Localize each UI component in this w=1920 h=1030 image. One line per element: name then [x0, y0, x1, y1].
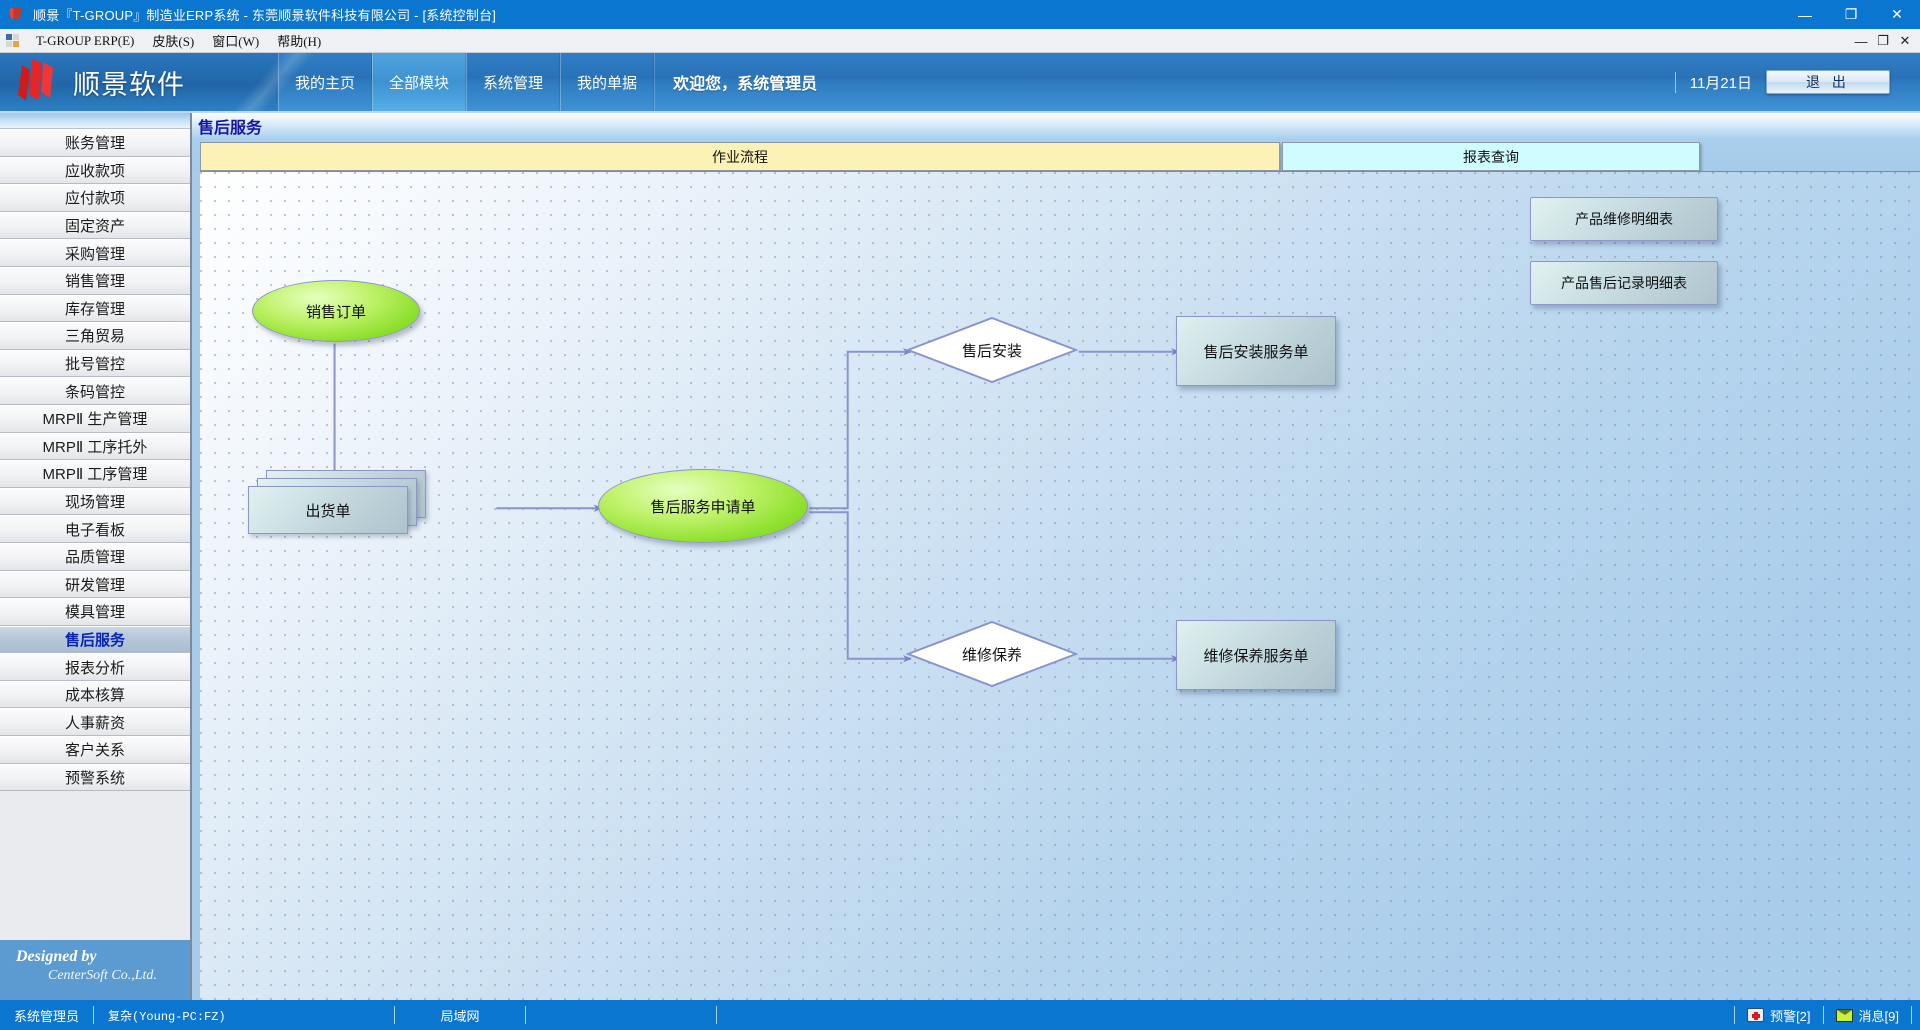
diamond-label: 售后安装 [906, 316, 1078, 384]
maximize-icon[interactable]: ❐ [1828, 0, 1874, 29]
module-sidebar: 账务管理 应收款项 应付款项 固定资产 采购管理 销售管理 库存管理 三角贸易 … [0, 113, 192, 1000]
mdi-restore-icon[interactable]: ❐ [1872, 30, 1894, 52]
flow-canvas-wrap: 销售订单 出货单 售后服务申请单 售后安装 [192, 171, 1920, 1000]
sidebar-filler [0, 791, 190, 940]
diamond-label: 维修保养 [906, 620, 1078, 688]
sidebar-item-mrp-process[interactable]: MRPⅡ 工序管理 [0, 460, 190, 488]
menu-item-window[interactable]: 窗口(W) [203, 29, 268, 52]
sidebar-item-mrp-outsource[interactable]: MRPⅡ 工序托外 [0, 433, 190, 461]
sidebar-item-sales[interactable]: 销售管理 [0, 267, 190, 295]
sidebar-item-payables[interactable]: 应付款项 [0, 184, 190, 212]
stack-layer-front: 出货单 [248, 486, 408, 534]
menu-item-erp[interactable]: T-GROUP ERP(E) [27, 31, 143, 51]
mail-icon [1836, 1009, 1853, 1022]
minimize-icon[interactable]: — [1782, 0, 1828, 29]
content-area: 售后服务 作业流程 报表查询 [192, 113, 1920, 1000]
flow-report-service-record[interactable]: 产品售后记录明细表 [1530, 261, 1718, 305]
logout-button[interactable]: 退 出 [1766, 70, 1890, 94]
sidebar-item-fixed-assets[interactable]: 固定资产 [0, 212, 190, 240]
status-cell-5 [717, 1006, 745, 1024]
flow-node-service-request[interactable]: 售后服务申请单 [598, 469, 808, 543]
sidebar-item-inventory[interactable]: 库存管理 [0, 295, 190, 323]
status-network: 局域网 [395, 1006, 525, 1024]
sidebar-item-lot-control[interactable]: 批号管控 [0, 350, 190, 378]
header-spacer [835, 53, 1675, 111]
window-title: 顺景『T-GROUP』制造业ERP系统 - 东莞顺景软件科技有限公司 - [系统… [33, 5, 496, 24]
page-title-bar: 售后服务 [192, 113, 1920, 139]
brand-logo-icon [16, 59, 62, 105]
sidebar-item-after-sales[interactable]: 售后服务 [0, 626, 190, 654]
sidebar-item-accounting[interactable]: 账务管理 [0, 129, 190, 157]
status-alert-badge[interactable]: 预警[2] [1735, 1006, 1822, 1025]
message-label: 消息[9] [1859, 1006, 1899, 1025]
mdi-app-icon [6, 34, 20, 48]
close-icon[interactable]: ✕ [1874, 0, 1920, 29]
sidebar-item-report-analysis[interactable]: 报表分析 [0, 653, 190, 681]
nav-tab-system[interactable]: 系统管理 [466, 53, 560, 111]
company-label: CenterSoft Co.,Ltd. [48, 968, 190, 984]
flow-node-maintain-decision[interactable]: 维修保养 [906, 620, 1078, 688]
status-divider-7 [1911, 1006, 1912, 1024]
flow-node-maintain-order[interactable]: 维修保养服务单 [1176, 620, 1336, 690]
sidebar-item-alert-system[interactable]: 预警系统 [0, 764, 190, 792]
mdi-window-controls: — ❐ ✕ [1850, 29, 1916, 53]
flow-node-sales-order[interactable]: 销售订单 [252, 280, 420, 342]
alert-label: 预警[2] [1770, 1006, 1810, 1025]
sidebar-item-mold[interactable]: 模具管理 [0, 598, 190, 626]
header-date: 11月21日 [1675, 72, 1752, 93]
header-nav-tabs: 我的主页 全部模块 系统管理 我的单据 [278, 53, 654, 111]
header-right-group: 11月21日 退 出 [1675, 53, 1920, 111]
tab-work-flow[interactable]: 作业流程 [200, 142, 1280, 171]
window-controls: — ❐ ✕ [1782, 0, 1920, 29]
app-logo-icon [7, 7, 25, 23]
page-title: 售后服务 [198, 114, 262, 138]
mdi-close-icon[interactable]: ✕ [1894, 30, 1916, 52]
page-tabstrip: 作业流程 报表查询 [192, 139, 1920, 171]
sidebar-item-rnd[interactable]: 研发管理 [0, 571, 190, 599]
alert-icon [1747, 1008, 1764, 1022]
sidebar-cap [0, 113, 190, 129]
designed-by-label: Designed by [16, 948, 190, 966]
brand-name: 顺景软件 [73, 63, 185, 102]
status-user: 系统管理员 [0, 1006, 93, 1024]
mdi-minimize-icon[interactable]: — [1850, 30, 1872, 52]
sidebar-item-shopfloor[interactable]: 现场管理 [0, 488, 190, 516]
os-title-bar: 顺景『T-GROUP』制造业ERP系统 - 东莞顺景软件科技有限公司 - [系统… [0, 0, 1920, 29]
sidebar-item-receivables[interactable]: 应收款项 [0, 157, 190, 185]
sidebar-item-barcode[interactable]: 条码管控 [0, 377, 190, 405]
flow-node-install-order[interactable]: 售后安装服务单 [1176, 316, 1336, 386]
sidebar-item-crm[interactable]: 客户关系 [0, 736, 190, 764]
status-bar: 系统管理员 复杂(Young-PC:FZ) 局域网 预警[2] 消息[9] [0, 1000, 1920, 1030]
status-message-badge[interactable]: 消息[9] [1824, 1006, 1911, 1025]
sidebar-item-quality[interactable]: 品质管理 [0, 543, 190, 571]
flow-node-shipment-order[interactable]: 出货单 [248, 470, 426, 540]
tab-report-query[interactable]: 报表查询 [1282, 142, 1700, 171]
sidebar-item-hr-payroll[interactable]: 人事薪资 [0, 708, 190, 736]
welcome-message: 欢迎您，系统管理员 [654, 53, 835, 111]
sidebar-items: 账务管理 应收款项 应付款项 固定资产 采购管理 销售管理 库存管理 三角贸易 … [0, 129, 190, 791]
status-cell-4 [526, 1006, 716, 1024]
sidebar-item-ekanban[interactable]: 电子看板 [0, 515, 190, 543]
flow-node-install-decision[interactable]: 售后安装 [906, 316, 1078, 384]
sidebar-item-purchasing[interactable]: 采购管理 [0, 239, 190, 267]
app-body: 账务管理 应收款项 应付款项 固定资产 采购管理 销售管理 库存管理 三角贸易 … [0, 113, 1920, 1000]
menu-item-skin[interactable]: 皮肤(S) [143, 29, 203, 52]
nav-tab-my-docs[interactable]: 我的单据 [560, 53, 654, 111]
sidebar-footer: Designed by CenterSoft Co.,Ltd. [0, 940, 190, 1000]
brand-area: 顺景软件 [0, 53, 278, 111]
application-menu-bar: T-GROUP ERP(E) 皮肤(S) 窗口(W) 帮助(H) — ❐ ✕ [0, 29, 1920, 53]
flow-canvas: 销售订单 出货单 售后服务申请单 售后安装 [200, 171, 1920, 1000]
nav-tab-modules[interactable]: 全部模块 [372, 53, 466, 111]
sidebar-item-costing[interactable]: 成本核算 [0, 681, 190, 709]
flow-report-repair-detail[interactable]: 产品维修明细表 [1530, 197, 1718, 241]
sidebar-item-mrp-production[interactable]: MRPⅡ 生产管理 [0, 405, 190, 433]
status-host: 复杂(Young-PC:FZ) [94, 1006, 394, 1024]
app-header: 顺景软件 我的主页 全部模块 系统管理 我的单据 欢迎您，系统管理员 11月21… [0, 53, 1920, 113]
sidebar-item-triangle-trade[interactable]: 三角贸易 [0, 322, 190, 350]
menu-item-help[interactable]: 帮助(H) [268, 29, 330, 52]
